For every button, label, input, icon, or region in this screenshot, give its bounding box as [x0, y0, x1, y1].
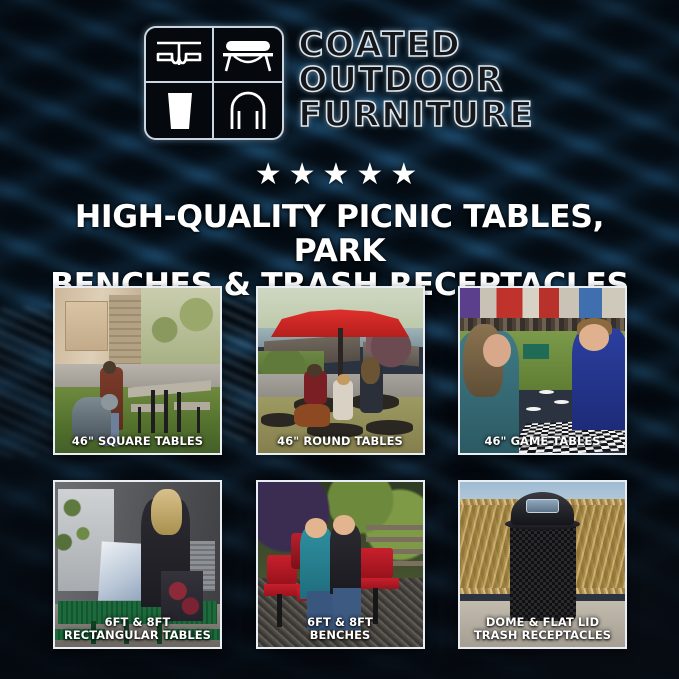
photo-game-tables	[460, 288, 625, 453]
photo-round-tables	[258, 288, 423, 453]
logo-icon-grid	[144, 26, 284, 140]
caption-line-2: BENCHES	[260, 629, 421, 642]
tile-caption: 6FT & 8FT RECTANGULAR TABLES	[57, 616, 218, 642]
caption-line-1: 46" ROUND TABLES	[260, 435, 421, 448]
caption-line-1: 46" SQUARE TABLES	[57, 435, 218, 448]
caption-line-2: RECTANGULAR TABLES	[57, 629, 218, 642]
trash-receptacle-icon	[146, 83, 214, 138]
brand-logo: COATED OUTDOOR FURNITURE	[0, 26, 679, 140]
brand-wordmark: COATED OUTDOOR FURNITURE	[298, 26, 534, 132]
caption-line-2: TRASH RECEPTACLES	[462, 629, 623, 642]
wordmark-line-3: FURNITURE	[298, 98, 534, 132]
tile-caption: 46" SQUARE TABLES	[57, 435, 218, 448]
product-tile-rectangular-tables[interactable]: 6FT & 8FT RECTANGULAR TABLES	[53, 480, 222, 649]
product-tile-benches[interactable]: 6FT & 8FT BENCHES	[256, 480, 425, 649]
product-tile-square-tables[interactable]: 46" SQUARE TABLES	[53, 286, 222, 455]
product-tile-game-tables[interactable]: 46" GAME TABLES	[458, 286, 627, 455]
tile-caption: 46" ROUND TABLES	[260, 435, 421, 448]
tile-caption: DOME & FLAT LID TRASH RECEPTACLES	[462, 616, 623, 642]
product-tile-trash-receptacles[interactable]: DOME & FLAT LID TRASH RECEPTACLES	[458, 480, 627, 649]
photo-square-tables	[55, 288, 220, 453]
tile-caption: 6FT & 8FT BENCHES	[260, 616, 421, 642]
caption-line-1: 46" GAME TABLES	[462, 435, 623, 448]
star-rating: ★★★★★	[0, 160, 679, 190]
product-tile-round-tables[interactable]: 46" ROUND TABLES	[256, 286, 425, 455]
wordmark-line-1: COATED	[298, 28, 534, 62]
product-category-grid: 46" SQUARE TABLES	[53, 286, 627, 649]
headline-line-1: HIGH-QUALITY PICNIC TABLES, PARK	[34, 200, 645, 268]
picnic-table-icon	[146, 28, 214, 83]
bench-table-icon	[214, 28, 282, 83]
bike-rack-arch-icon	[214, 83, 282, 138]
tile-caption: 46" GAME TABLES	[462, 435, 623, 448]
wordmark-line-2: OUTDOOR	[298, 63, 534, 97]
